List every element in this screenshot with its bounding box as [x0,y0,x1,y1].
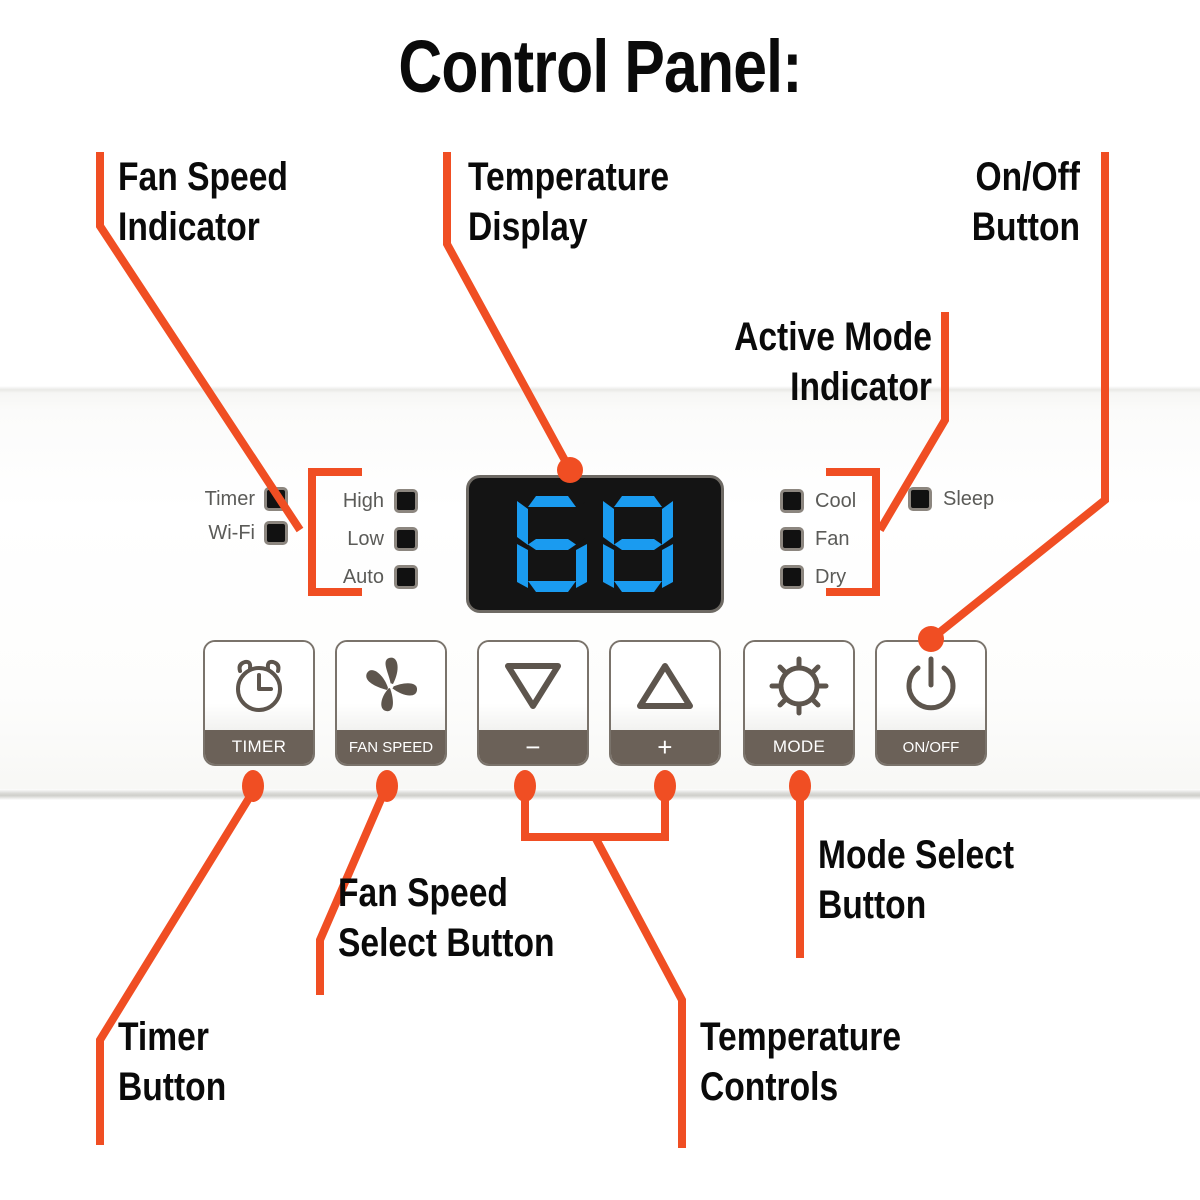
power-icon [898,653,964,719]
status-indicator-group: Timer Wi-Fi [192,482,288,550]
callout-timer-button: Timer Button [118,1012,370,1112]
panel-top-seam [0,386,1200,393]
temperature-down-button-label: − [479,730,587,764]
sun-icon [768,655,830,717]
indicator-dry-label: Dry [815,566,846,589]
fan-speed-button[interactable]: FAN SPEED [335,640,447,766]
indicator-auto: Auto [322,558,418,596]
callout-on-off-button: On/Off Button [761,152,1080,252]
indicator-fan: Fan [780,520,890,558]
indicator-cool-led [780,489,804,513]
indicator-high: High [322,482,418,520]
triangle-down-icon [498,656,568,716]
indicator-timer: Timer [192,482,288,516]
fan-speed-indicator-group: High Low Auto [322,482,418,596]
power-button-label: ON/OFF [877,730,985,764]
indicator-cool: Cool [780,482,890,520]
temperature-up-button-label: + [611,730,719,764]
callout-temperature-display: Temperature Display [468,152,720,252]
fan-icon [359,655,423,717]
indicator-low: Low [322,520,418,558]
mode-indicator-group: Cool Fan Dry [780,482,890,596]
power-button[interactable]: ON/OFF [875,640,987,766]
timer-button[interactable]: TIMER [203,640,315,766]
temperature-up-button[interactable]: + [609,640,721,766]
indicator-auto-led [394,565,418,589]
temperature-display: 68 [466,475,724,613]
mode-button-face [745,642,853,730]
panel-bottom-seam [0,789,1200,800]
indicator-wifi-led [264,521,288,545]
sleep-indicator-group: Sleep [908,482,994,516]
callout-mode-select-button: Mode Select Button [818,830,1095,930]
power-button-face [877,642,985,730]
indicator-sleep-led [908,487,932,511]
indicator-dry-led [780,565,804,589]
alarm-clock-icon [228,655,290,717]
indicator-fan-led [780,527,804,551]
temperature-down-button-face [479,642,587,730]
indicator-low-led [394,527,418,551]
indicator-sleep-label: Sleep [943,488,994,511]
triangle-up-icon [630,656,700,716]
temperature-up-button-face [611,642,719,730]
display-digit-ones [603,496,673,592]
callout-fan-speed-indicator: Fan Speed Indicator [118,152,387,252]
fan-speed-button-label: FAN SPEED [337,730,445,764]
mode-button-label: MODE [745,730,853,764]
indicator-high-label: High [343,490,384,513]
callout-temperature-controls: Temperature Controls [700,1012,986,1112]
temperature-down-button[interactable]: − [477,640,589,766]
indicator-cool-label: Cool [815,490,856,513]
fan-speed-button-face [337,642,445,730]
callout-fan-speed-select-button: Fan Speed Select Button [338,868,640,968]
timer-button-label: TIMER [205,730,313,764]
indicator-sleep: Sleep [908,482,994,516]
indicator-wifi-label: Wi-Fi [208,522,255,545]
indicator-wifi: Wi-Fi [192,516,288,550]
display-digit-tens [517,496,587,592]
indicator-dry: Dry [780,558,890,596]
mode-button[interactable]: MODE [743,640,855,766]
callout-active-mode-indicator: Active Mode Indicator [620,312,932,412]
indicator-auto-label: Auto [343,566,384,589]
indicator-high-led [394,489,418,513]
page-title: Control Panel: [108,24,1092,109]
indicator-timer-led [264,487,288,511]
indicator-fan-label: Fan [815,528,849,551]
indicator-low-label: Low [347,528,384,551]
indicator-timer-label: Timer [205,488,255,511]
timer-button-face [205,642,313,730]
